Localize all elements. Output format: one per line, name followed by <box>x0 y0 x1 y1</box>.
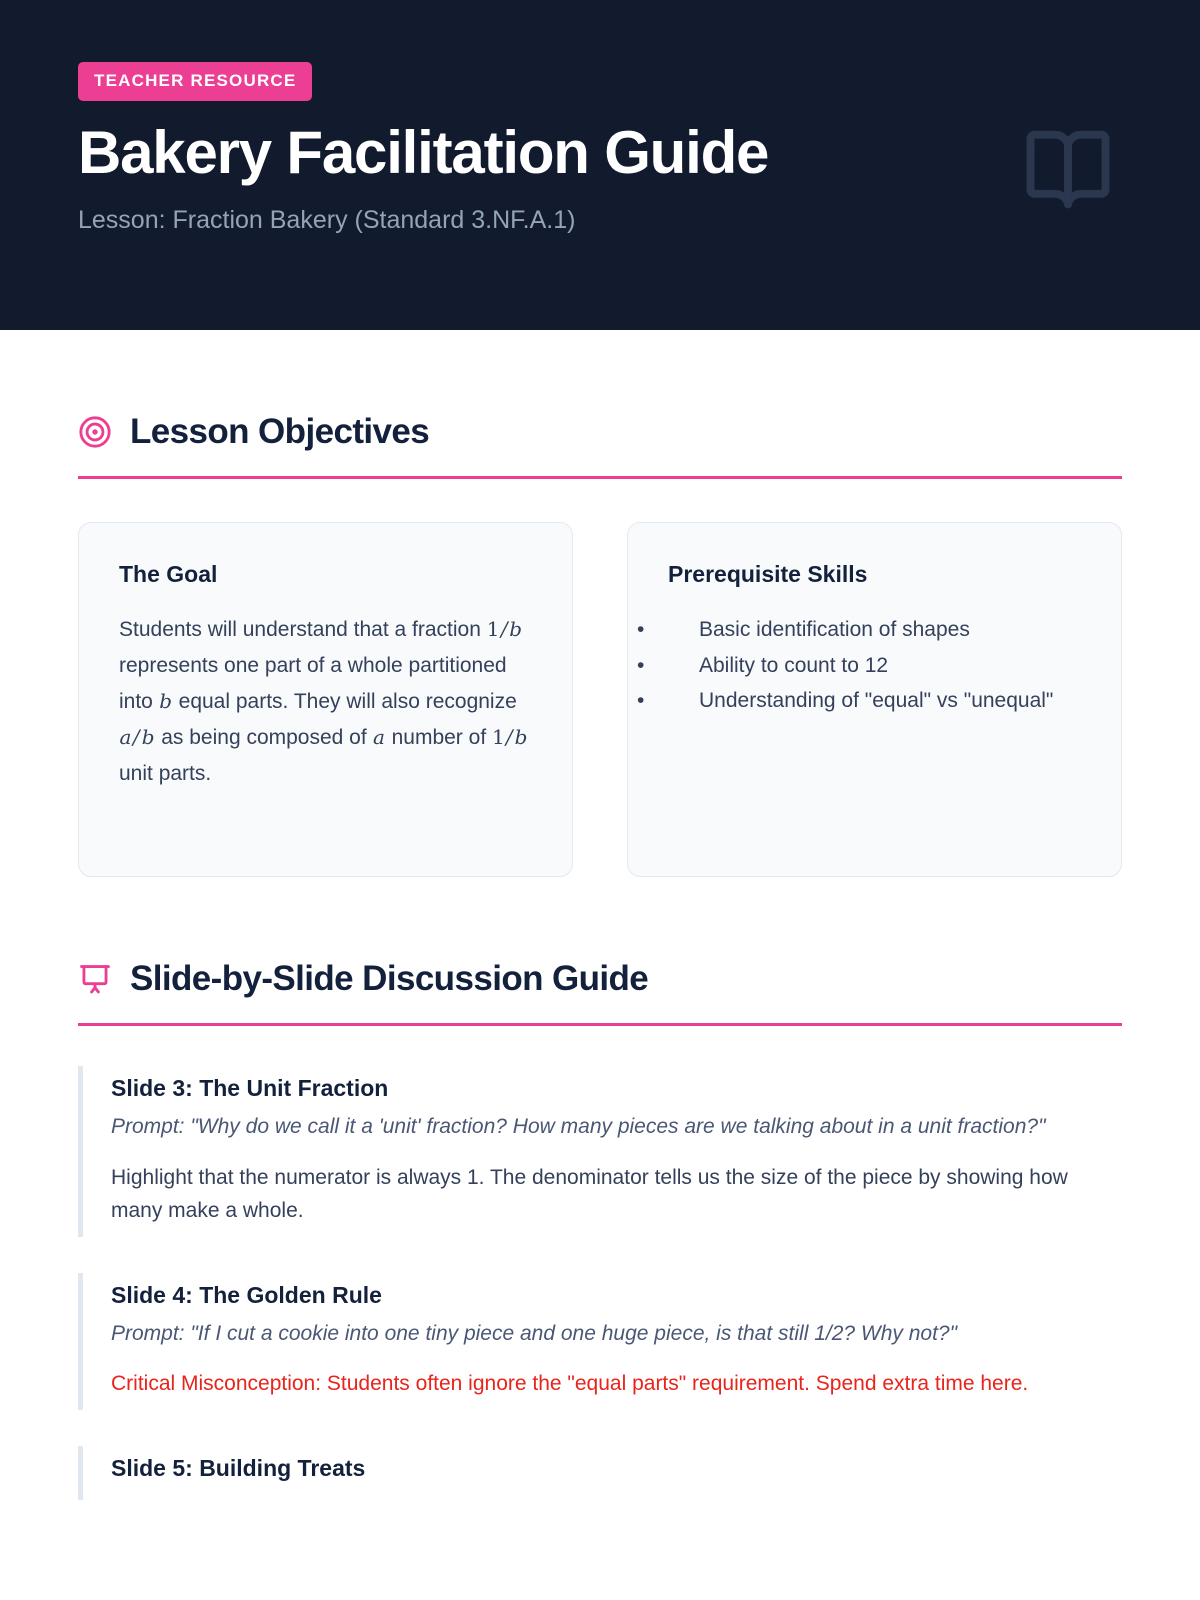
page-title: Bakery Facilitation Guide <box>78 121 1122 186</box>
goal-text-5: number of <box>386 726 492 749</box>
slide-block: Slide 3: The Unit Fraction Prompt: "Why … <box>78 1066 1122 1237</box>
slide-title: Slide 4: The Golden Rule <box>111 1282 1122 1309</box>
slide-list: Slide 3: The Unit Fraction Prompt: "Why … <box>78 1066 1122 1500</box>
goal-text-6: unit parts. <box>119 762 211 785</box>
section-header: Slide-by-Slide Discussion Guide <box>78 877 1122 999</box>
math-one-over-b-b: 1/b <box>492 725 528 749</box>
open-book-icon <box>1018 118 1118 218</box>
goal-text-4: as being composed of <box>155 726 372 749</box>
slide-title: Slide 5: Building Treats <box>111 1455 1122 1482</box>
list-item: Understanding of "equal" vs "unequal" <box>699 683 1081 719</box>
card-title: The Goal <box>119 561 532 588</box>
slide-block: Slide 5: Building Treats <box>78 1446 1122 1500</box>
card-the-goal: The Goal Students will understand that a… <box>78 522 573 877</box>
prerequisite-skill-list: Basic identification of shapes Ability t… <box>668 612 1081 719</box>
math-b: b <box>159 689 173 713</box>
math-a: a <box>373 725 386 749</box>
section-divider <box>78 476 1122 479</box>
slide-prompt: Prompt: "Why do we call it a 'unit' frac… <box>111 1111 1122 1144</box>
presentation-screen-icon <box>78 962 112 996</box>
objective-cards: The Goal Students will understand that a… <box>78 522 1122 877</box>
list-item: Basic identification of shapes <box>699 612 1081 648</box>
card-title: Prerequisite Skills <box>668 561 1081 588</box>
goal-text-3: equal parts. They will also recognize <box>173 690 517 713</box>
section-title: Slide-by-Slide Discussion Guide <box>130 959 648 999</box>
section-divider <box>78 1023 1122 1026</box>
section-header: Lesson Objectives <box>78 330 1122 452</box>
slide-title: Slide 3: The Unit Fraction <box>111 1075 1122 1102</box>
slide-note: Highlight that the numerator is always 1… <box>111 1161 1122 1228</box>
math-one-over-b-a: 1/b <box>487 617 523 641</box>
target-icon <box>78 415 112 449</box>
section-discussion-guide: Slide-by-Slide Discussion Guide Slide 3:… <box>78 877 1122 1500</box>
math-a-over-b: a/b <box>119 725 155 749</box>
card-body: Students will understand that a fraction… <box>119 612 532 793</box>
document-body: Lesson Objectives The Goal Students will… <box>0 330 1200 1500</box>
slide-prompt: Prompt: "If I cut a cookie into one tiny… <box>111 1318 1122 1351</box>
goal-text-1: Students will understand that a fraction <box>119 618 487 641</box>
slide-block: Slide 4: The Golden Rule Prompt: "If I c… <box>78 1273 1122 1410</box>
section-title: Lesson Objectives <box>130 412 429 452</box>
page-subtitle: Lesson: Fraction Bakery (Standard 3.NF.A… <box>78 206 1122 235</box>
status-badge: TEACHER RESOURCE <box>78 62 312 101</box>
slide-note-critical: Critical Misconception: Students often i… <box>111 1367 1122 1401</box>
page-header: TEACHER RESOURCE Bakery Facilitation Gui… <box>0 0 1200 330</box>
card-prerequisite-skills: Prerequisite Skills Basic identification… <box>627 522 1122 877</box>
section-lesson-objectives: Lesson Objectives The Goal Students will… <box>78 330 1122 877</box>
list-item: Ability to count to 12 <box>699 648 1081 684</box>
